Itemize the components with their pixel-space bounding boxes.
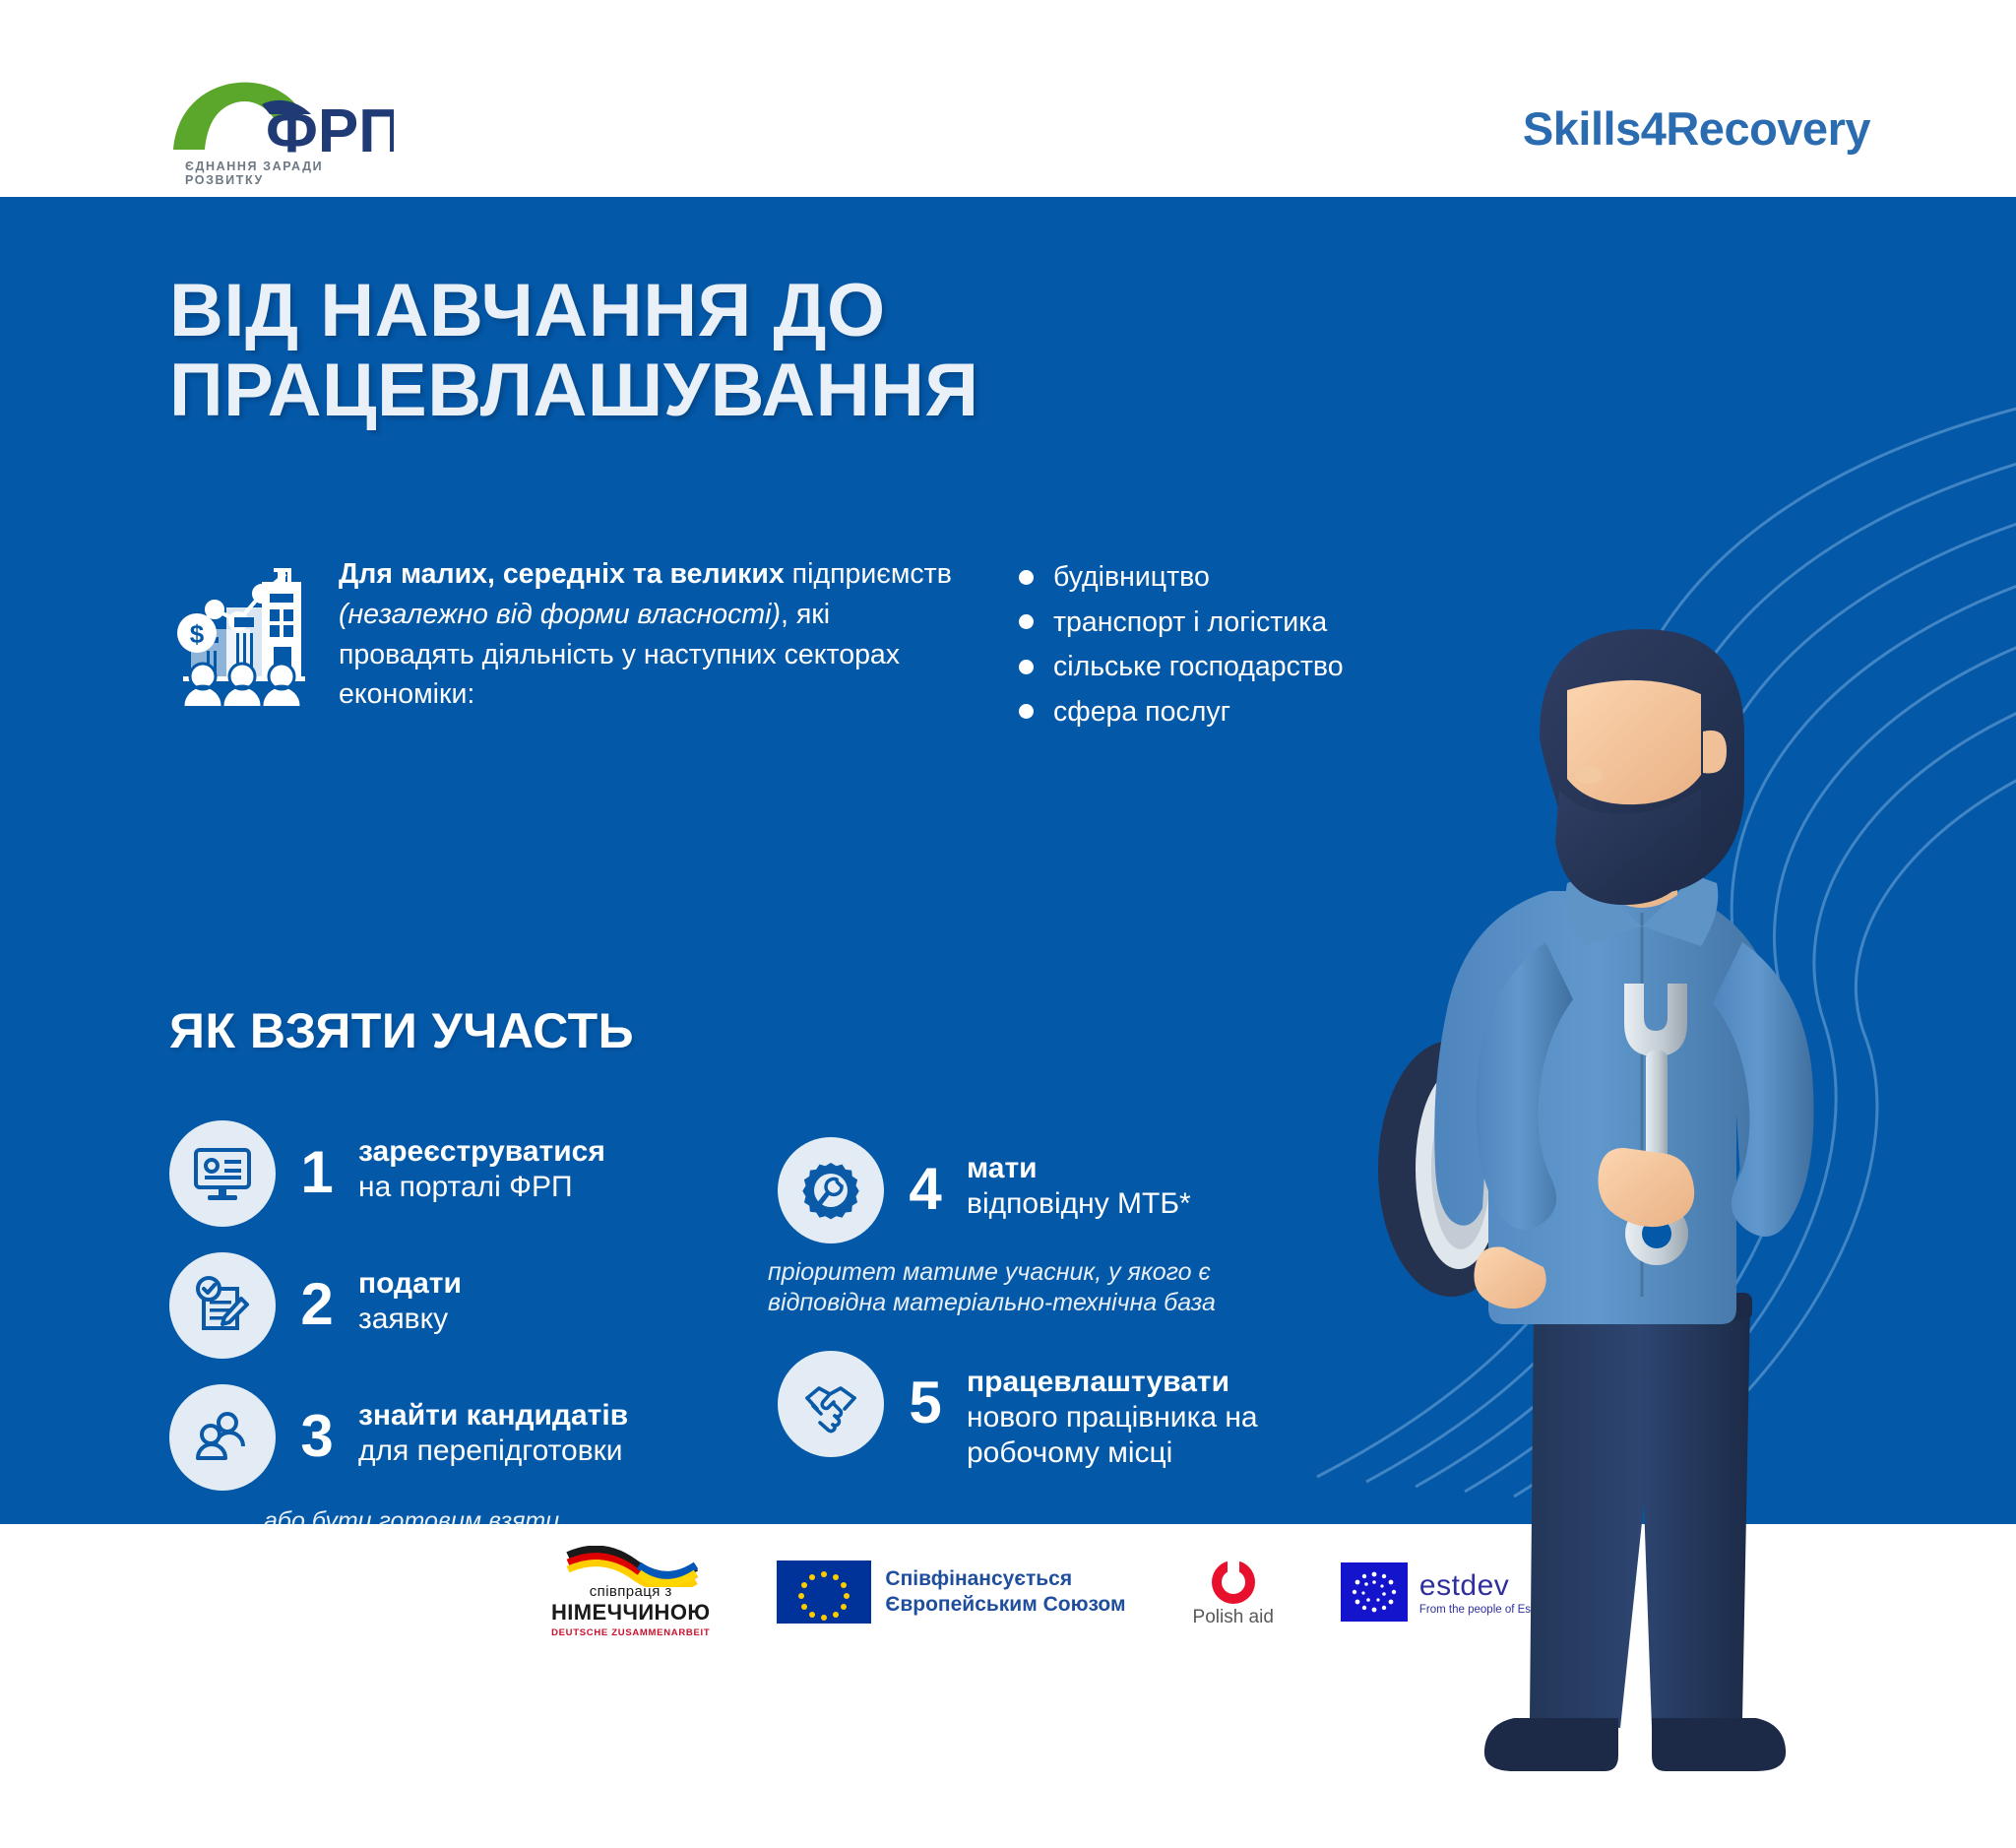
step-1-line2: на порталі ФРП [358,1170,605,1205]
germany-ukraine-flag-icon [562,1546,700,1587]
sector-label: будівництво [1053,563,1210,592]
id-card-monitor-icon [192,1143,253,1204]
page-title: ВІД НАВЧАННЯ ДО ПРАЦЕВЛАШУВАННЯ [169,272,978,430]
worker-nose [1575,766,1603,784]
eligibility-text: Для малих, середніх та великих підприємс… [339,554,957,715]
step-3-number: 3 [282,1384,352,1489]
step-5-line1: працевлаштувати [967,1365,1258,1400]
frp-logo-letters: ФРП [266,97,394,165]
page-title-line1: ВІД НАВЧАННЯ ДО [169,272,978,351]
handshake-icon [799,1372,862,1435]
eligibility-bold: Для малих, середніх та великих [339,558,785,590]
step-1-line1: зареєструватися [358,1134,605,1170]
worker-face [1567,680,1701,804]
polish-aid-icon [1206,1557,1261,1604]
eligibility-block: $ Для малих, середніх та великих підприє… [169,554,957,715]
steps-column-left: 1 зареєструватися на порталі ФРП 2 [169,1120,799,1524]
step-2-line1: подати [358,1266,462,1302]
step-3-icon-bubble [169,1384,276,1491]
eu-cofunding-logo[interactable]: Співфінансується Європейським Союзом [777,1561,1125,1624]
svg-text:$: $ [190,619,205,649]
polish-aid-logo[interactable]: Polish aid [1193,1557,1274,1628]
worker-shoe-right [1652,1718,1786,1771]
list-item: транспорт і логістика [1019,608,1344,637]
how-to-participate-title: ЯК ВЗЯТИ УЧАСТЬ [169,1002,634,1059]
germany-line2: НІМЕЧЧИНОЮ [551,1600,710,1625]
frp-logo-tagline: ЄДНАННЯ ЗАРАДИ РОЗВИТКУ [185,159,394,187]
step-1-icon-bubble [169,1120,276,1227]
germany-line1: співпраця з [551,1583,710,1600]
people-group-icon [192,1407,253,1468]
germany-cooperation-logo[interactable]: співпраця з НІМЕЧЧИНОЮ DEUTSCHE ZUSAMMEN… [551,1546,710,1638]
step-5-line2: нового працівника на робочому місці [967,1400,1258,1471]
eu-flag-icon [777,1561,871,1624]
step-4-line2: відповідну МТБ* [967,1186,1191,1222]
document-check-pencil-icon [192,1275,253,1336]
step-3-line2: для перепідготовки [358,1434,628,1469]
bullet-dot-icon [1019,660,1034,674]
bullet-dot-icon [1019,570,1034,585]
worker-shoe-left [1484,1718,1618,1771]
sector-label: сільське господарство [1053,653,1344,681]
step-3-line1: знайти кандидатів [358,1398,628,1434]
worker-legs [1530,1306,1750,1728]
step-4-number: 4 [890,1137,961,1242]
step-item-2: 2 подати заявку [169,1252,799,1359]
skills4recovery-brand: Skills4Recovery [1523,101,1870,156]
list-item: будівництво [1019,563,1344,592]
step-2-icon-bubble [169,1252,276,1359]
eligibility-italic: (незалежно від форми власності) [339,599,781,630]
step-5-icon-bubble [778,1351,884,1457]
frp-logo-mark: ФРП [167,67,394,173]
step-1-number: 1 [282,1120,352,1225]
page-header: ФРП ЄДНАННЯ ЗАРАДИ РОЗВИТКУ Skills4Recov… [0,0,2016,197]
sector-list: будівництво транспорт і логістика сільсь… [1019,563,1344,742]
eligibility-part1: підприємств [785,558,952,590]
bullet-dot-icon [1019,704,1034,719]
frp-logo[interactable]: ФРП ЄДНАННЯ ЗАРАДИ РОЗВИТКУ [167,67,394,173]
business-growth-icon: $ [169,554,315,715]
list-item: сфера послуг [1019,698,1344,727]
step-item-1: 1 зареєструватися на порталі ФРП [169,1120,799,1227]
step-2-line2: заявку [358,1302,462,1337]
sector-label: транспорт і логістика [1053,608,1327,637]
gear-wrench-icon [800,1160,861,1221]
sector-label: сфера послуг [1053,698,1230,727]
step-4-icon-bubble [778,1137,884,1243]
polish-aid-label: Polish aid [1193,1607,1274,1628]
list-item: сільське господарство [1019,653,1344,681]
page-title-line2: ПРАЦЕВЛАШУВАННЯ [169,351,978,431]
step-3-note: або бути готовим взяти запропонованого к… [264,1506,799,1524]
step-4-line1: мати [967,1151,1191,1186]
step-2-number: 2 [282,1252,352,1357]
bullet-dot-icon [1019,614,1034,629]
eu-line2: Європейським Союзом [885,1592,1125,1618]
worker-illustration [1356,617,1986,1848]
step-item-3: 3 знайти кандидатів для перепідготовки [169,1384,799,1491]
eu-line1: Співфінансується [885,1566,1125,1592]
germany-line3: DEUTSCHE ZUSAMMENARBEIT [551,1627,710,1638]
step-5-number: 5 [890,1351,961,1455]
